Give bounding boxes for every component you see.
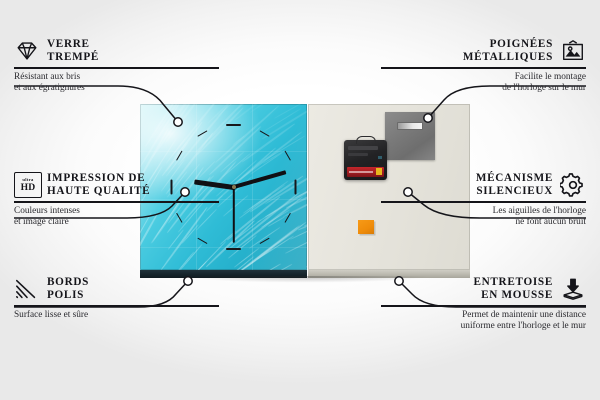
feature-rule (14, 201, 219, 203)
feature-title: MÉCANISME SILENCIEUX (476, 172, 553, 197)
feature-subtitle: Facilite le montage de l'horloge sur le … (381, 72, 586, 94)
feature-poignees-metalliques: POIGNÉES MÉTALLIQUES Facilite le montage… (381, 38, 586, 95)
feature-head: ENTRETOISE EN MOUSSE (381, 276, 586, 302)
ultra-hd-icon-main: HD (21, 183, 36, 193)
hanging-hook (356, 136, 376, 144)
clock-mark (295, 180, 297, 195)
feature-title: VERRE TREMPÉ (47, 38, 99, 63)
feature-title: IMPRESSION DE HAUTE QUALITÉ (47, 172, 150, 197)
feature-subtitle: Résistant aux bris et aux égratignures (14, 72, 219, 94)
handle-slot (397, 122, 423, 130)
clock-mark (226, 248, 241, 250)
mechanism-detail-mid (348, 153, 368, 156)
feature-head: VERRE TREMPÉ (14, 38, 219, 64)
ultra-hd-icon: ultra HD (14, 172, 40, 198)
feature-mecanisme-silencieux: MÉCANISME SILENCIEUX Les aiguilles de l'… (381, 172, 586, 229)
infographic-canvas: VERRE TREMPÉ Résistant aux bris et aux é… (0, 0, 600, 400)
feature-rule (14, 67, 219, 69)
feature-head: POIGNÉES MÉTALLIQUES (381, 38, 586, 64)
feature-title: BORDS POLIS (47, 276, 89, 301)
feature-subtitle: Surface lisse et sûre (14, 310, 219, 321)
feature-rule (381, 67, 586, 69)
mechanism-detail-side (378, 156, 382, 159)
metal-handle-plate (385, 112, 435, 160)
polished-edge-icon (14, 276, 40, 302)
gear-icon (560, 172, 586, 198)
foam-spacer (358, 220, 374, 234)
clock-mark (226, 124, 241, 126)
feature-head: ultra HD IMPRESSION DE HAUTE QUALITÉ (14, 172, 219, 198)
feature-subtitle: Permet de maintenir une distance uniform… (381, 310, 586, 332)
feature-title: ENTRETOISE EN MOUSSE (473, 276, 553, 301)
clock-second-hand (233, 187, 235, 243)
feature-verre-trempe: VERRE TREMPÉ Résistant aux bris et aux é… (14, 38, 219, 95)
feature-rule (381, 305, 586, 307)
mechanism-detail-top (348, 146, 378, 150)
feature-impression-haute-qualite: ultra HD IMPRESSION DE HAUTE QUALITÉ Cou… (14, 172, 219, 229)
feature-subtitle: Les aiguilles de l'horloge ne font aucun… (381, 206, 586, 228)
feature-rule (14, 305, 219, 307)
feature-subtitle: Couleurs intenses et image claire (14, 206, 219, 228)
feature-entretoise-en-mousse: ENTRETOISE EN MOUSSE Permet de maintenir… (381, 276, 586, 333)
diamond-icon (14, 38, 40, 64)
feature-bords-polis: BORDS POLIS Surface lisse et sûre (14, 276, 219, 321)
battery (347, 167, 384, 177)
battery-label (349, 171, 373, 173)
feature-head: MÉCANISME SILENCIEUX (381, 172, 586, 198)
feature-head: BORDS POLIS (14, 276, 219, 302)
feature-title: POIGNÉES MÉTALLIQUES (463, 38, 553, 63)
feature-rule (381, 201, 586, 203)
clock-center-pin (232, 185, 236, 189)
foam-spacer-icon (560, 276, 586, 302)
picture-frame-icon (560, 38, 586, 64)
